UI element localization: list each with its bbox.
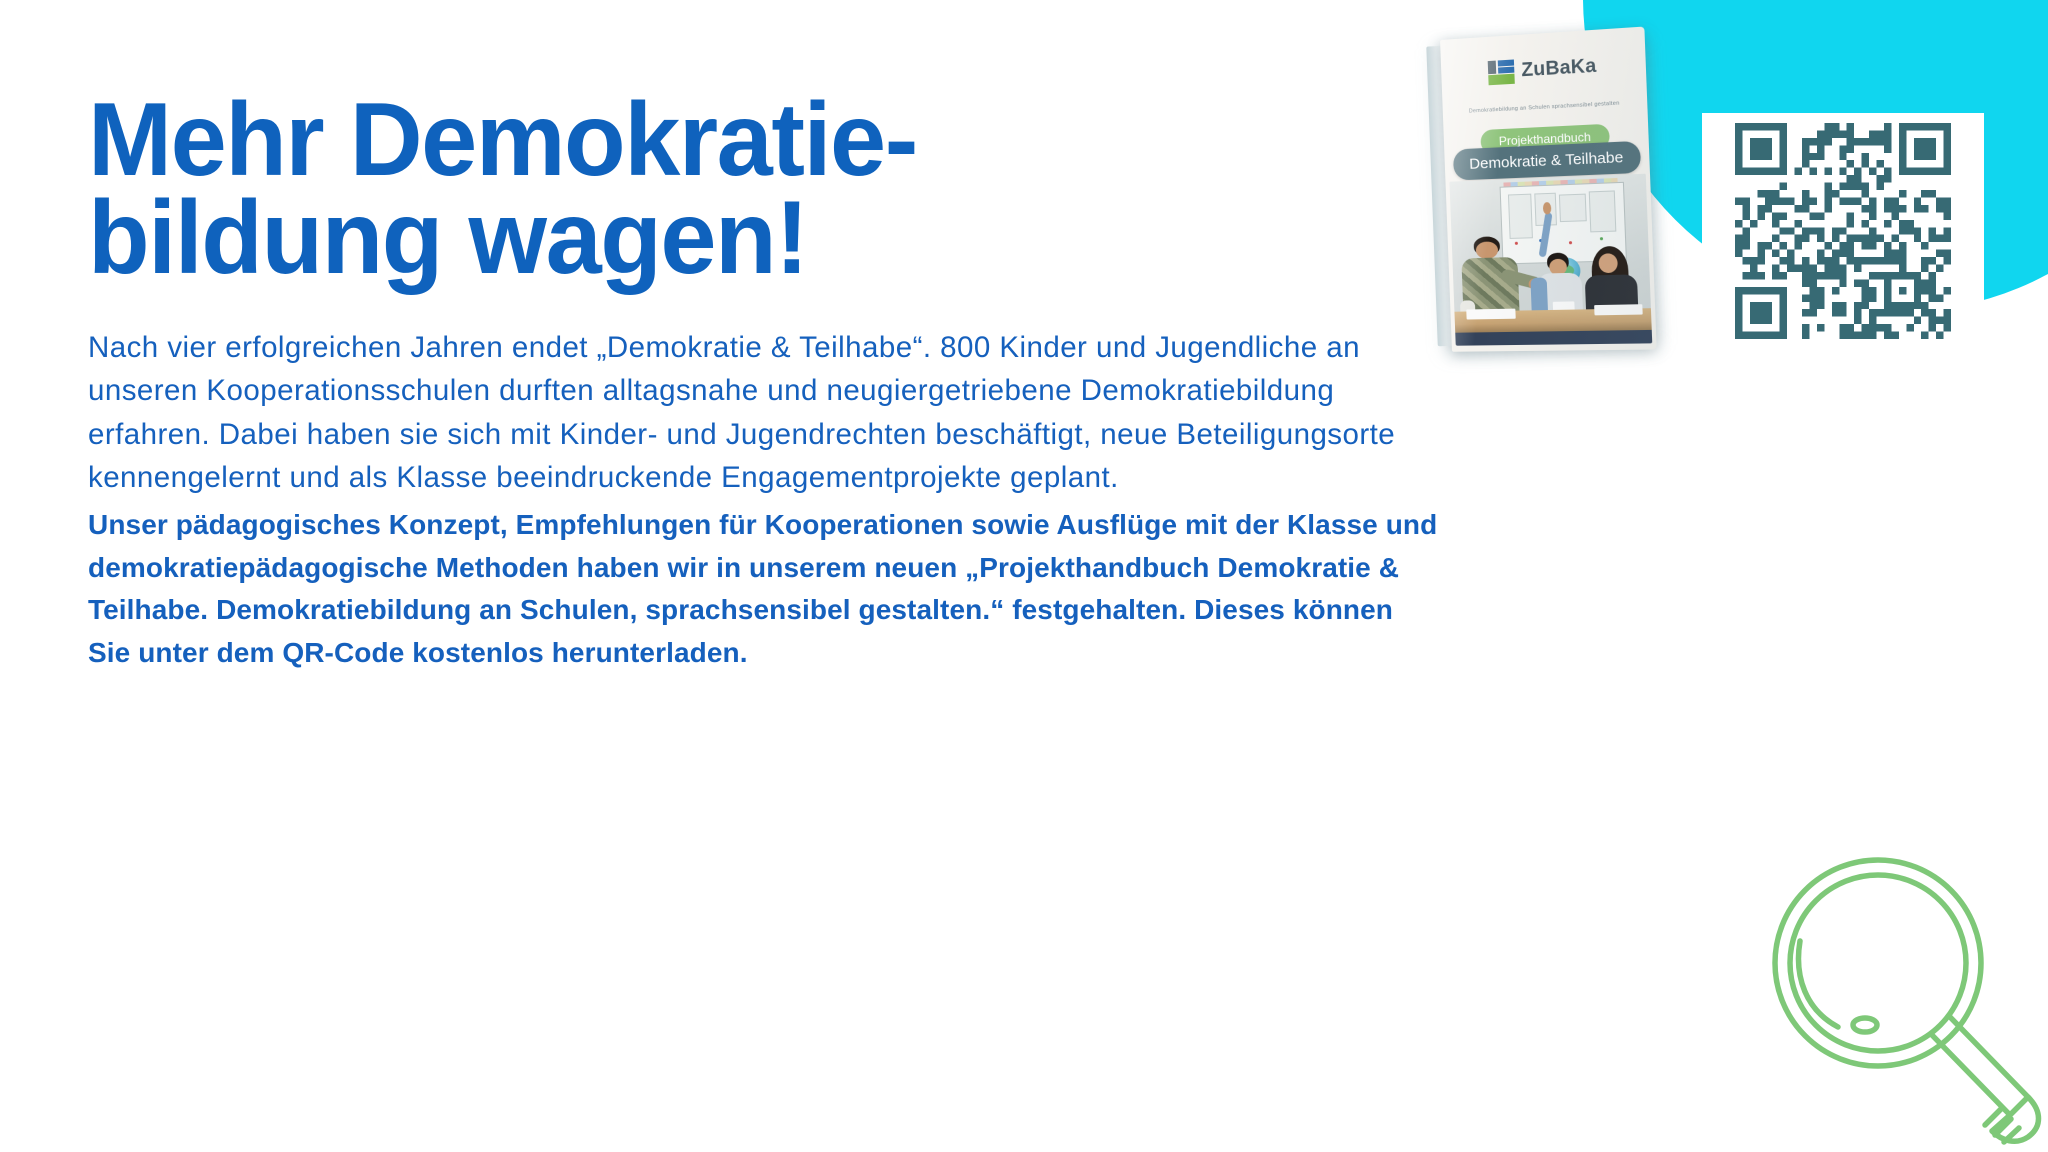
- emphasis-paragraph: Unser pädagogisches Konzept, Empfehlunge…: [88, 500, 1443, 674]
- qr-code[interactable]: [1702, 113, 1984, 349]
- intro-paragraph: Nach vier erfolgreichen Jahren endet „De…: [88, 288, 1443, 501]
- book-subtitle: Demokratiebildung an Schulen sprachsensi…: [1443, 99, 1648, 116]
- slide-canvas: ZuBaKa Demokratiebildung an Schulen spra…: [0, 0, 2048, 1152]
- text-column: Mehr Demokratie- bildung wagen! Nach vie…: [88, 0, 1468, 674]
- page-title: Mehr Demokratie- bildung wagen!: [88, 0, 1427, 288]
- magnifying-glass-icon: [1760, 845, 2048, 1145]
- book-cover-photo: [1449, 174, 1652, 346]
- qr-code-image: [1735, 123, 1951, 339]
- zubaka-logo-text: ZuBaKa: [1521, 55, 1597, 82]
- book-cover: ZuBaKa Demokratiebildung an Schulen spra…: [1440, 27, 1657, 352]
- zubaka-logo: ZuBaKa: [1488, 54, 1597, 85]
- zubaka-logo-mark: [1488, 59, 1515, 85]
